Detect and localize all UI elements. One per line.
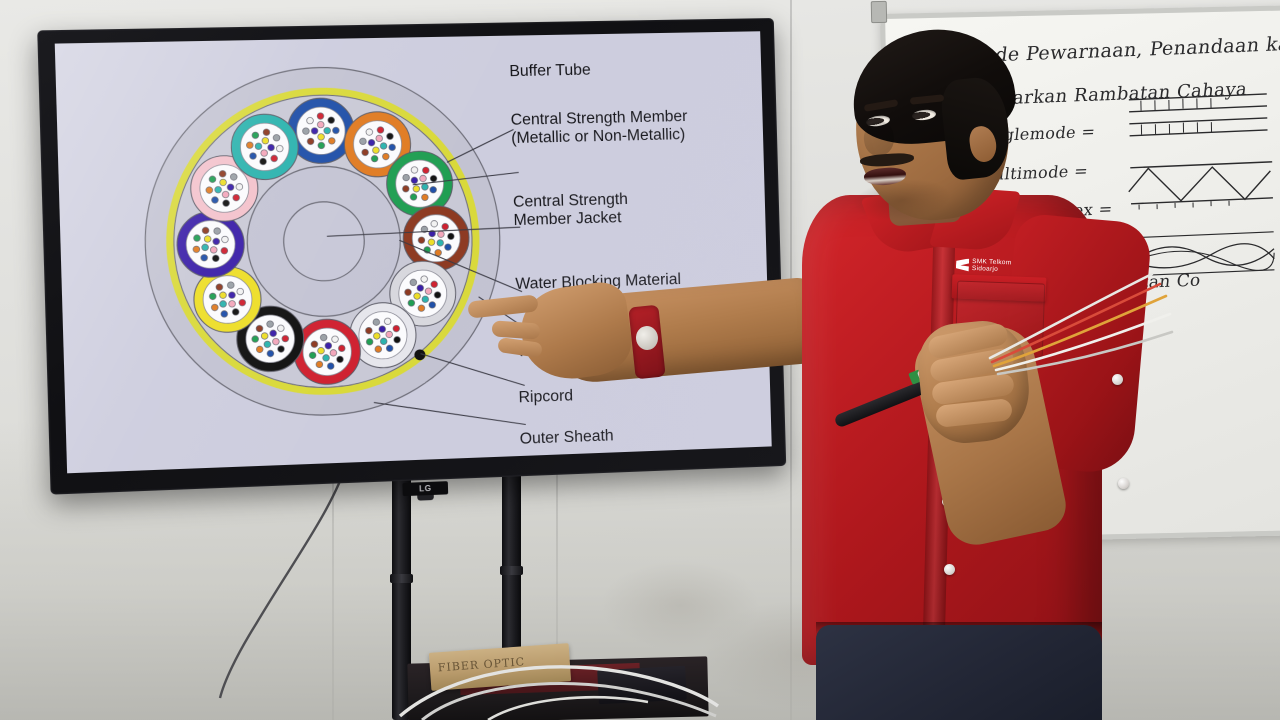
optical-fiber <box>209 176 216 183</box>
optical-fiber <box>219 170 226 177</box>
optical-fiber <box>229 300 236 307</box>
optical-fiber <box>212 255 219 262</box>
optical-fiber <box>366 129 373 136</box>
optical-fiber <box>276 145 283 152</box>
optical-fiber <box>393 325 400 332</box>
optical-fiber <box>211 304 218 311</box>
optical-fiber <box>282 335 289 342</box>
label-buffer-tube: Buffer Tube <box>509 61 591 81</box>
optical-fiber <box>270 330 277 337</box>
optical-fiber <box>320 334 327 341</box>
optical-fiber <box>261 150 268 157</box>
fiber-strands <box>984 262 1174 382</box>
optical-fiber <box>431 281 438 288</box>
optical-fiber <box>434 292 441 299</box>
tv-bezel: Buffer Tube Central Strength Member (Met… <box>37 18 786 495</box>
optical-fiber <box>221 311 228 318</box>
optical-fiber <box>221 236 228 243</box>
optical-fiber <box>317 121 324 128</box>
optical-fiber <box>362 149 369 156</box>
optical-fiber <box>402 185 409 192</box>
optical-fiber <box>328 138 335 145</box>
optical-fiber <box>414 293 421 300</box>
optical-fiber <box>430 175 437 182</box>
optical-fiber <box>405 289 412 296</box>
optical-fiber <box>429 302 436 309</box>
optical-fiber <box>209 293 216 300</box>
optical-fiber <box>323 355 330 362</box>
optical-fiber <box>232 309 239 316</box>
optical-fiber <box>422 184 429 191</box>
optical-fiber <box>223 200 230 207</box>
optical-fiber <box>379 326 386 333</box>
optical-fiber <box>230 174 237 181</box>
optical-fiber <box>309 352 316 359</box>
optical-fiber <box>318 347 325 354</box>
optical-fiber <box>210 246 217 253</box>
optical-fiber <box>403 174 410 181</box>
optical-fiber <box>365 327 372 334</box>
classroom-scene: Jenis, Kode Pewarnaan, Penandaan ka 1. B… <box>0 0 1280 720</box>
optical-fiber <box>417 285 424 292</box>
optical-fiber <box>376 135 383 142</box>
optical-fiber <box>445 244 452 251</box>
optical-fiber <box>268 144 275 151</box>
optical-fiber <box>256 346 263 353</box>
optical-fiber <box>261 333 268 340</box>
optical-fiber <box>213 238 220 245</box>
optical-fiber <box>375 346 382 353</box>
label-central-strength-member: Central Strength Member (Metallic or Non… <box>510 108 688 148</box>
optical-fiber <box>237 288 244 295</box>
optical-fiber <box>420 175 427 182</box>
optical-fiber <box>411 167 418 174</box>
optical-fiber <box>216 284 223 291</box>
optical-fiber <box>250 153 257 160</box>
table-cables <box>392 628 722 720</box>
optical-fiber <box>267 350 274 357</box>
optical-fiber <box>220 301 227 308</box>
optical-fiber <box>387 133 394 140</box>
optical-fiber <box>421 276 428 283</box>
label-ripcord: Ripcord <box>518 387 573 407</box>
optical-fiber <box>410 279 417 286</box>
optical-fiber <box>206 187 213 194</box>
optical-fiber <box>278 346 285 353</box>
fiber-cable-diagram <box>55 31 772 473</box>
optical-fiber <box>327 363 334 370</box>
optical-fiber <box>311 128 318 135</box>
optical-fiber <box>252 132 259 139</box>
optical-fiber <box>271 155 278 162</box>
optical-fiber <box>193 246 200 253</box>
optical-fiber <box>413 185 420 192</box>
optical-fiber <box>204 236 211 243</box>
label-central-strength-member-jacket: Central Strength Member Jacket <box>513 190 629 229</box>
optical-fiber <box>380 338 387 345</box>
optical-fiber <box>386 331 393 338</box>
optical-fiber <box>389 144 396 151</box>
optical-fiber <box>430 186 437 193</box>
optical-fiber <box>384 318 391 325</box>
optical-fiber <box>194 235 201 242</box>
optical-fiber <box>438 231 445 238</box>
presenter: SMK Telkom Sidoarjo <box>760 30 1190 720</box>
optical-fiber <box>262 137 269 144</box>
optical-fiber <box>418 237 425 244</box>
optical-fiber <box>330 350 337 357</box>
optical-fiber <box>239 299 246 306</box>
pole-band <box>390 574 413 583</box>
optical-fiber <box>256 325 263 332</box>
optical-fiber <box>448 233 455 240</box>
optical-fiber <box>311 341 318 348</box>
optical-fiber <box>332 336 339 343</box>
optical-fiber <box>411 177 418 184</box>
optical-fiber <box>318 142 325 149</box>
optical-fiber <box>337 356 344 363</box>
optical-fiber <box>428 239 435 246</box>
optical-fiber <box>252 336 259 343</box>
optical-fiber <box>338 345 345 352</box>
sleeve-button <box>1118 478 1129 489</box>
optical-fiber <box>267 321 274 328</box>
lg-logo: LG <box>402 481 448 496</box>
optical-fiber <box>380 143 387 150</box>
cable-cross-section <box>140 64 504 421</box>
leader-line <box>374 397 526 430</box>
optical-fiber <box>317 113 324 120</box>
optical-fiber <box>229 292 236 299</box>
optical-fiber <box>368 139 375 146</box>
optical-fiber <box>425 288 432 295</box>
optical-fiber <box>236 183 243 190</box>
shirt-button <box>944 564 955 575</box>
telkom-logo-mark <box>956 258 969 271</box>
optical-fiber <box>202 244 209 251</box>
middle-finger <box>492 320 541 339</box>
optical-fiber <box>373 147 380 154</box>
slide-fiber-cable-cross-section: Buffer Tube Central Strength Member (Met… <box>55 31 772 473</box>
optical-fiber <box>408 300 415 307</box>
optical-fiber <box>222 191 229 198</box>
optical-fiber <box>221 247 228 254</box>
optical-fiber <box>233 194 240 201</box>
optical-fiber <box>220 292 227 299</box>
optical-fiber <box>422 296 429 303</box>
optical-fiber <box>325 342 332 349</box>
optical-fiber <box>418 305 425 312</box>
optical-fiber <box>215 186 222 193</box>
optical-fiber <box>422 167 429 174</box>
optical-fiber <box>220 179 227 186</box>
optical-fiber <box>324 127 331 134</box>
optical-fiber <box>422 194 429 201</box>
optical-fiber <box>316 361 323 368</box>
optical-fiber <box>373 333 380 340</box>
optical-fiber <box>202 227 209 234</box>
optical-fiber <box>263 129 270 136</box>
optical-fiber <box>307 117 314 124</box>
optical-fiber <box>442 223 449 230</box>
optical-fiber <box>264 341 271 348</box>
optical-fiber <box>373 319 380 326</box>
optical-fiber <box>410 194 417 201</box>
optical-fiber <box>227 282 234 289</box>
optical-fiber <box>201 254 208 261</box>
optical-fiber <box>366 338 373 345</box>
optical-fiber <box>277 325 284 332</box>
television: Buffer Tube Central Strength Member (Met… <box>37 18 786 495</box>
optical-fiber <box>211 197 218 204</box>
optical-fiber <box>332 127 339 134</box>
optical-fiber <box>246 142 253 149</box>
pole-band <box>500 566 523 575</box>
optical-fiber <box>394 336 401 343</box>
optical-fiber <box>302 128 309 135</box>
label-outer-sheath: Outer Sheath <box>519 427 613 449</box>
tv-screen: Buffer Tube Central Strength Member (Met… <box>55 31 772 473</box>
optical-fiber <box>214 228 221 235</box>
optical-fiber <box>437 240 444 247</box>
optical-fiber <box>371 155 378 162</box>
optical-fiber <box>431 220 438 227</box>
optical-fiber <box>328 117 335 124</box>
optical-fiber <box>360 138 367 145</box>
optical-fiber <box>377 127 384 134</box>
optical-fiber <box>260 158 267 165</box>
optical-fiber <box>255 143 262 150</box>
optical-fiber <box>318 134 325 141</box>
optical-fiber <box>382 153 389 160</box>
optical-fiber <box>307 138 314 145</box>
optical-fiber <box>227 184 234 191</box>
optical-fiber <box>272 338 279 345</box>
optical-fiber <box>273 134 280 141</box>
optical-fiber <box>386 345 393 352</box>
trousers <box>816 625 1102 720</box>
